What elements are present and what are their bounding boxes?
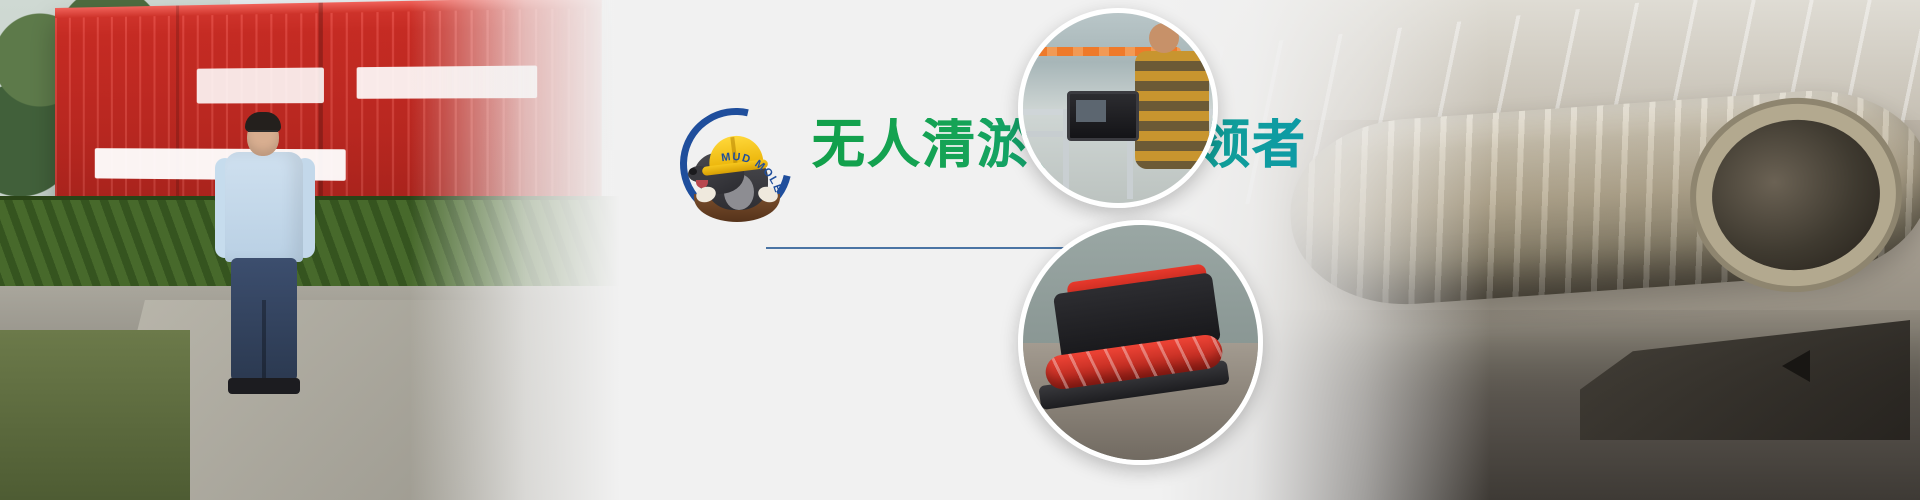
operator-head <box>1149 23 1179 53</box>
person-glasses <box>248 130 278 139</box>
logo-curved-text-value: MUD MOLE <box>721 151 785 195</box>
person-hair <box>245 112 281 132</box>
circle-photo-dredging-robot <box>1018 220 1263 465</box>
mole-nose <box>689 168 697 175</box>
person-shoes <box>228 378 300 394</box>
mud-mole-logo: MUD MOLE <box>680 108 792 220</box>
arrow-icon <box>1782 350 1810 382</box>
background-pipe-photo <box>1160 0 1920 500</box>
person-leg-seam <box>262 300 266 384</box>
control-console <box>1067 91 1139 141</box>
left-photo-fade <box>410 0 620 500</box>
hero-banner: MUD MOLE 无人清淤行业引领者 <box>0 0 1920 500</box>
container-brand-mark-left <box>197 67 324 103</box>
person-shirt <box>225 152 303 262</box>
left-photo <box>0 0 620 500</box>
operator-body <box>1135 51 1209 169</box>
svg-text:MUD MOLE: MUD MOLE <box>721 151 785 195</box>
left-photo-grass <box>0 330 190 500</box>
circle-photo-operator <box>1018 8 1218 208</box>
logo-curved-text: MUD MOLE <box>718 156 798 216</box>
